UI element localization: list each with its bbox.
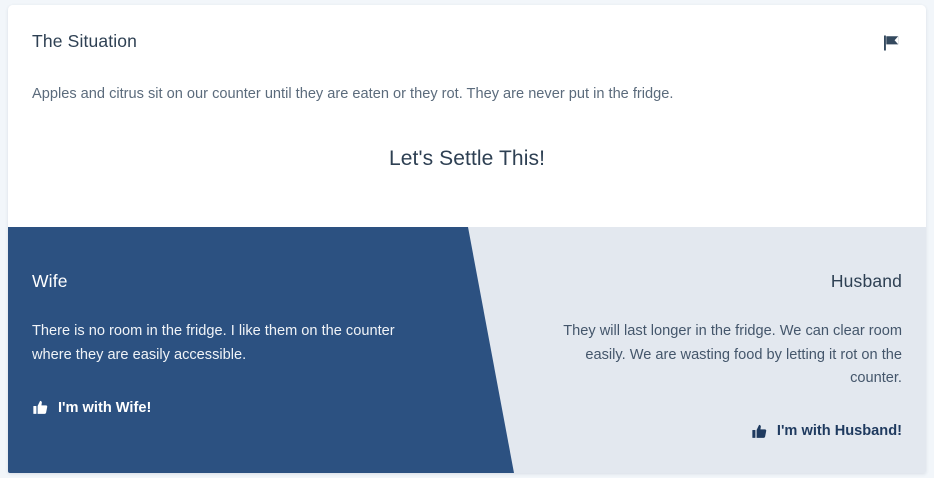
wife-panel: Wife There is no room in the fridge. I l… <box>32 227 402 473</box>
settle-this-card: The Situation Apples and citrus sit on o… <box>8 5 926 473</box>
vote-wife-button[interactable]: I'm with Wife! <box>32 399 151 416</box>
flag-icon[interactable] <box>880 32 902 54</box>
versus-section: Wife There is no room in the fridge. I l… <box>8 227 926 473</box>
husband-argument: They will last longer in the fridge. We … <box>552 292 902 391</box>
page-title: The Situation <box>32 31 902 52</box>
settle-this-heading: Let's Settle This! <box>32 106 902 171</box>
vote-husband-button[interactable]: I'm with Husband! <box>751 423 902 440</box>
wife-argument: There is no room in the fridge. I like t… <box>32 292 402 367</box>
situation-description: Apples and citrus sit on our counter unt… <box>32 52 902 106</box>
husband-title: Husband <box>552 271 902 292</box>
thumbs-up-icon <box>751 423 768 440</box>
situation-section: The Situation Apples and citrus sit on o… <box>8 5 926 227</box>
thumbs-up-icon <box>32 399 49 416</box>
wife-title: Wife <box>32 271 402 292</box>
husband-vote-row: I'm with Husband! <box>552 391 902 445</box>
vote-wife-label: I'm with Wife! <box>58 400 151 416</box>
husband-panel: Husband They will last longer in the fri… <box>552 227 902 473</box>
vote-husband-label: I'm with Husband! <box>777 423 902 439</box>
